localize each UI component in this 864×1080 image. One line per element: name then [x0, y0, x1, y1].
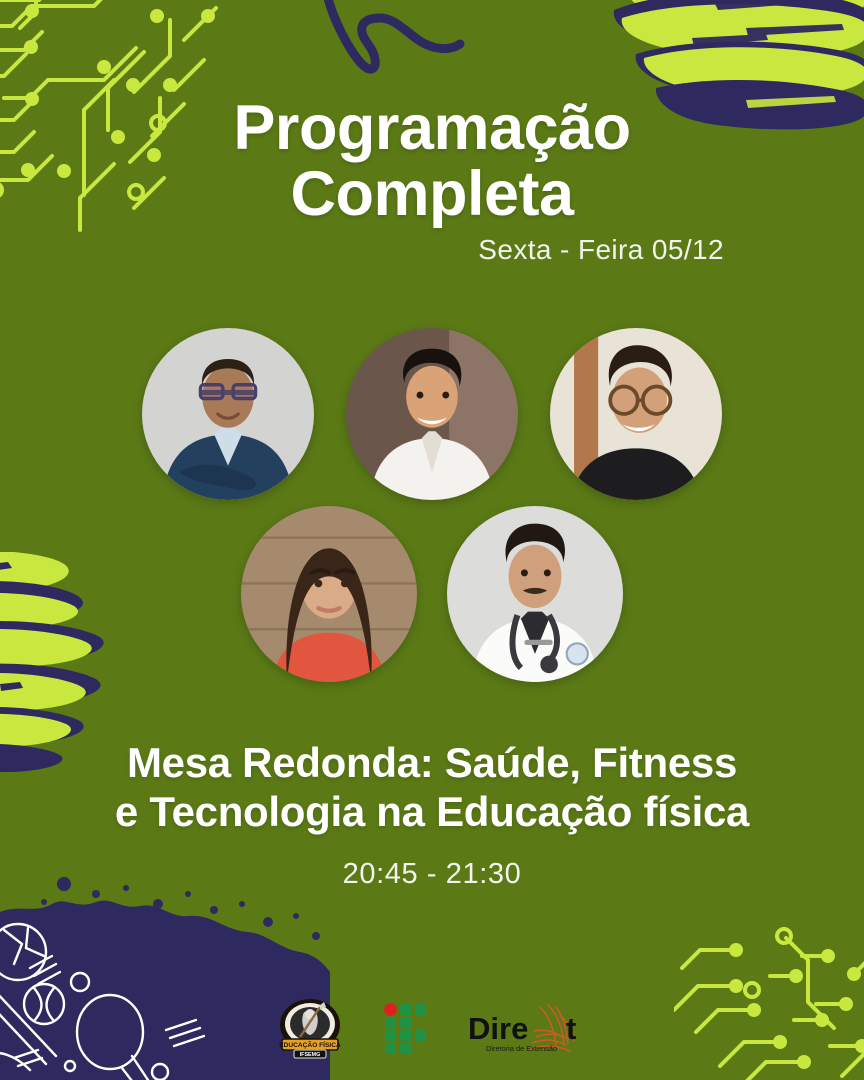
speaker-row-bottom — [0, 506, 864, 682]
event-date-subtitle: Sexta - Feira 05/12 — [478, 234, 724, 266]
logo-atletica-mid: EDUCAÇÃO FÍSICA — [279, 1040, 341, 1049]
event-time: 20:45 - 21:30 — [0, 858, 864, 891]
logo-dirext-wordmark: Dire — [468, 1011, 528, 1046]
title-line-1: Programação — [0, 96, 864, 162]
logo-dirext: Dire t Diretoria de Extensão — [462, 1001, 590, 1060]
logo-bar: EDUCAÇÃO FÍSICA IFSEMG — [0, 997, 864, 1064]
logo-if — [380, 1002, 428, 1059]
avatar — [447, 506, 623, 682]
logo-atletica: EDUCAÇÃO FÍSICA IFSEMG — [274, 997, 346, 1064]
title-line-2: Completa — [0, 162, 864, 228]
page-title: Programação Completa — [0, 96, 864, 227]
poster: Programação Completa Sexta - Feira 05/12 — [0, 0, 864, 1080]
logo-atletica-bottom: IFSEMG — [300, 1052, 321, 1058]
avatar — [142, 328, 314, 500]
logo-dirext-wordmark-tail: t — [566, 1011, 576, 1046]
event-title: Mesa Redonda: Saúde, Fitness e Tecnologi… — [0, 738, 864, 836]
logo-dirext-tagline: Diretoria de Extensão — [486, 1044, 557, 1053]
speaker-row-top — [0, 328, 864, 500]
squiggle-line-icon — [318, 0, 498, 80]
avatar — [346, 328, 518, 500]
avatar — [241, 506, 417, 682]
avatar — [550, 328, 722, 500]
event-details: Mesa Redonda: Saúde, Fitness e Tecnologi… — [0, 738, 864, 891]
